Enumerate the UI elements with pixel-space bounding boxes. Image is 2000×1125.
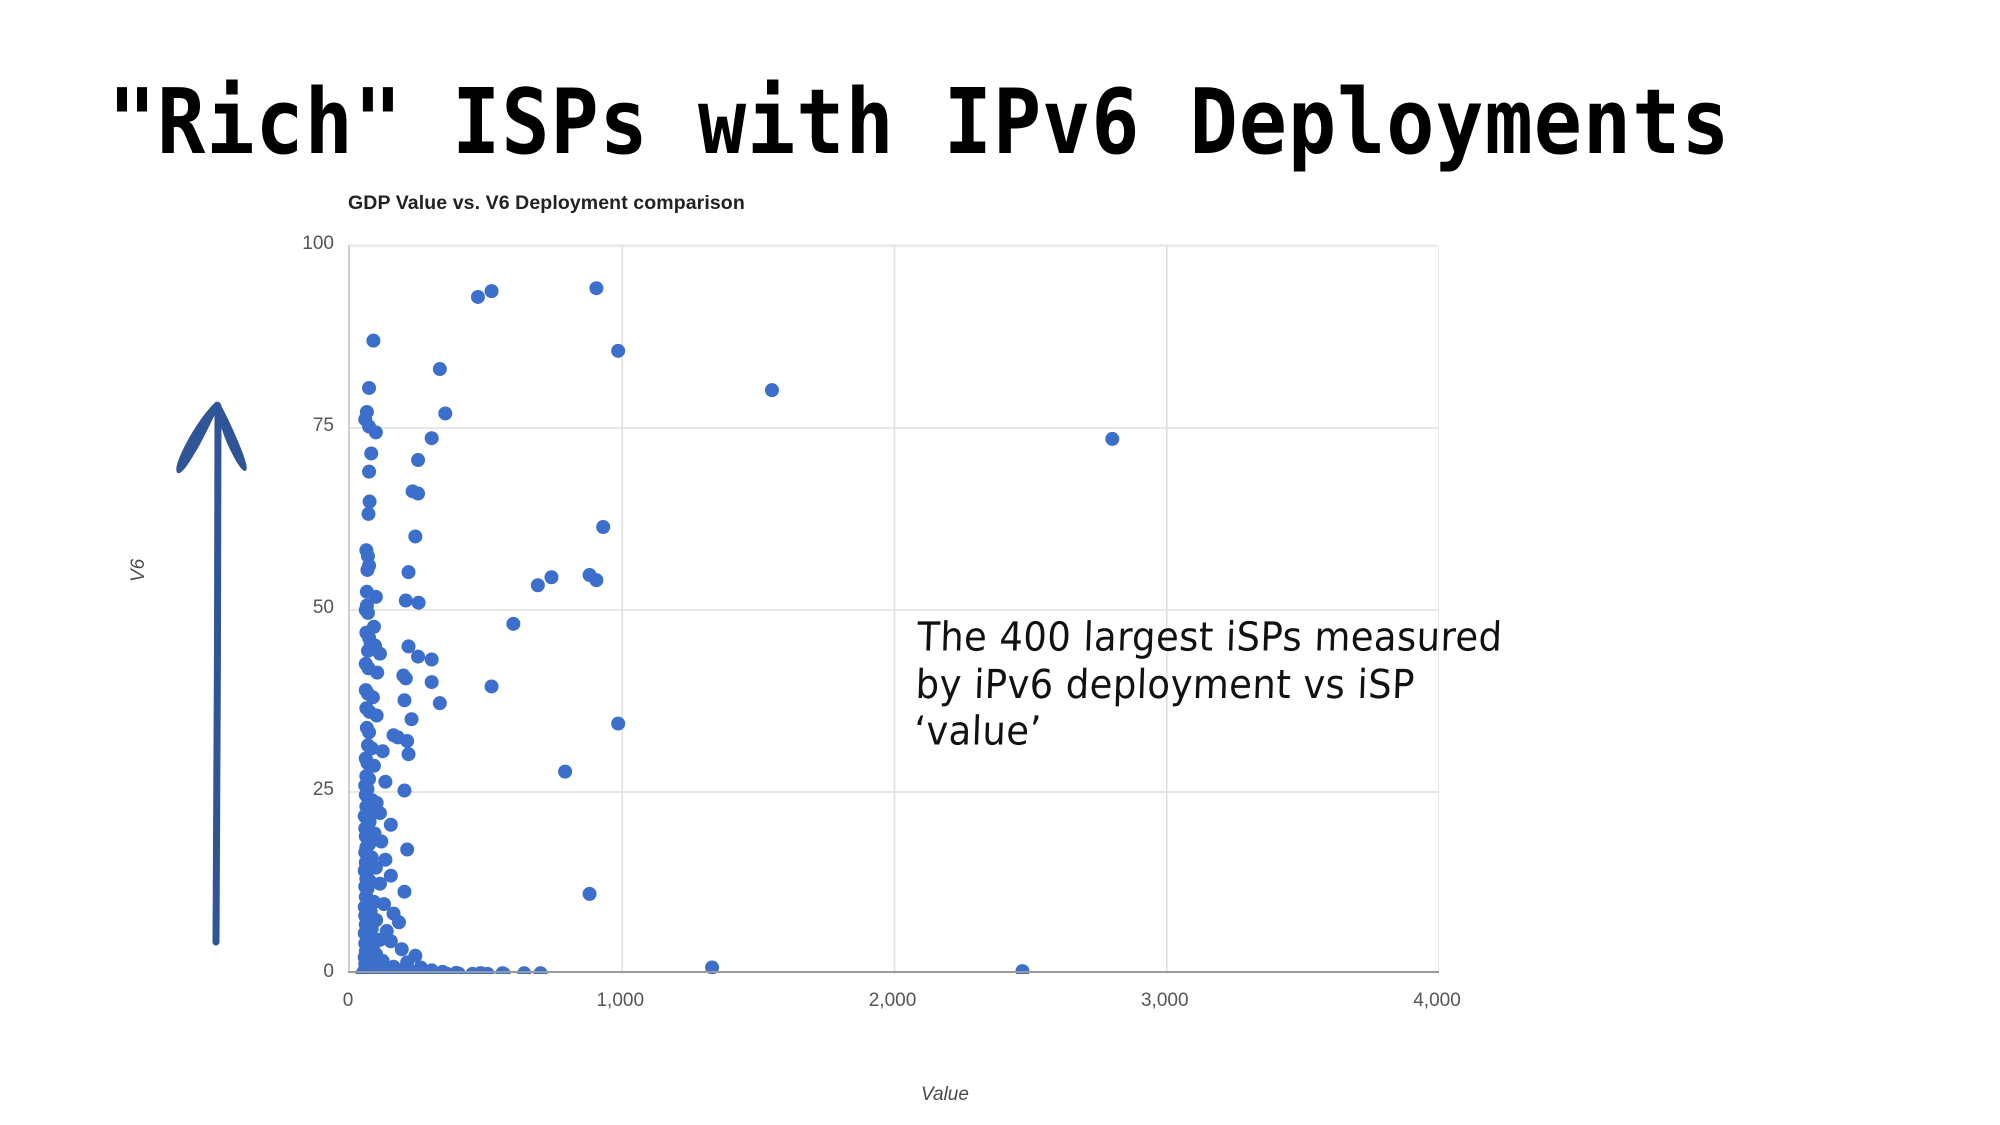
data-point	[411, 453, 425, 467]
data-point	[611, 717, 625, 731]
data-point	[411, 650, 425, 664]
data-point	[589, 573, 603, 587]
data-point	[370, 666, 384, 680]
data-point	[395, 942, 409, 956]
data-point	[471, 290, 485, 304]
data-point	[438, 406, 452, 420]
arrow-head-left	[177, 402, 218, 472]
data-point	[399, 594, 413, 608]
x-axis-ticks: 01,0002,0003,0004,000	[348, 990, 1437, 1020]
data-point	[412, 596, 426, 610]
data-point	[397, 784, 411, 798]
data-point	[384, 818, 398, 832]
data-point	[397, 693, 411, 707]
data-point	[425, 653, 439, 667]
data-point	[544, 570, 558, 584]
data-point	[765, 383, 779, 397]
data-point	[361, 606, 375, 620]
data-point	[392, 915, 406, 929]
x-tick-label: 2,000	[833, 990, 953, 1012]
plot-area	[348, 244, 1437, 972]
data-point	[362, 465, 376, 479]
x-axis-line	[348, 971, 1439, 973]
scatter-chart: GDP Value vs. V6 Deployment comparison 0…	[0, 0, 2000, 1125]
handwritten-annotation: The 400 largest iSPs measured by iPv6 de…	[913, 614, 1618, 755]
y-axis-title: V6	[128, 559, 150, 582]
data-point	[402, 565, 416, 579]
data-point	[374, 835, 388, 849]
data-point	[362, 507, 376, 521]
data-point	[433, 362, 447, 376]
data-point	[369, 425, 383, 439]
x-axis-title: Value	[815, 1084, 1075, 1106]
data-point	[400, 843, 414, 857]
data-point	[425, 675, 439, 689]
data-point	[373, 877, 387, 891]
data-point	[1105, 432, 1119, 446]
plot-points-layer	[350, 246, 1439, 974]
x-tick-label: 3,000	[1105, 990, 1225, 1012]
x-tick-label: 1,000	[560, 990, 680, 1012]
data-point	[558, 765, 572, 779]
data-point	[589, 281, 603, 295]
data-point	[433, 696, 447, 710]
data-point	[360, 563, 374, 577]
data-point	[485, 679, 499, 693]
arrow-shaft	[216, 406, 218, 942]
y-tick-label: 25	[274, 779, 334, 801]
data-point	[397, 885, 411, 899]
data-point	[362, 725, 376, 739]
data-point	[506, 617, 520, 631]
data-point	[373, 647, 387, 661]
data-point	[370, 709, 384, 723]
y-tick-label: 50	[274, 597, 334, 619]
data-point	[485, 284, 499, 298]
data-point	[364, 446, 378, 460]
chart-title: GDP Value vs. V6 Deployment comparison	[348, 192, 745, 215]
x-tick-label: 0	[288, 990, 408, 1012]
data-point	[531, 578, 545, 592]
data-point	[361, 644, 375, 658]
data-point	[405, 712, 419, 726]
y-tick-label: 100	[274, 233, 334, 255]
data-point	[378, 775, 392, 789]
y-tick-label: 75	[274, 415, 334, 437]
data-point	[611, 344, 625, 358]
y-axis-ticks: 0255075100	[272, 244, 334, 972]
data-point	[399, 671, 413, 685]
data-point	[376, 744, 390, 758]
data-point	[400, 734, 414, 748]
data-point	[363, 495, 377, 509]
data-point	[425, 431, 439, 445]
data-point	[362, 381, 376, 395]
data-point	[583, 887, 597, 901]
data-point	[596, 520, 610, 534]
data-point	[402, 639, 416, 653]
up-arrow-annotation	[160, 350, 280, 950]
data-point	[402, 747, 416, 761]
y-tick-label: 0	[274, 961, 334, 983]
x-tick-label: 4,000	[1377, 990, 1497, 1012]
data-point	[408, 529, 422, 543]
data-point	[366, 334, 380, 348]
data-point	[411, 487, 425, 501]
